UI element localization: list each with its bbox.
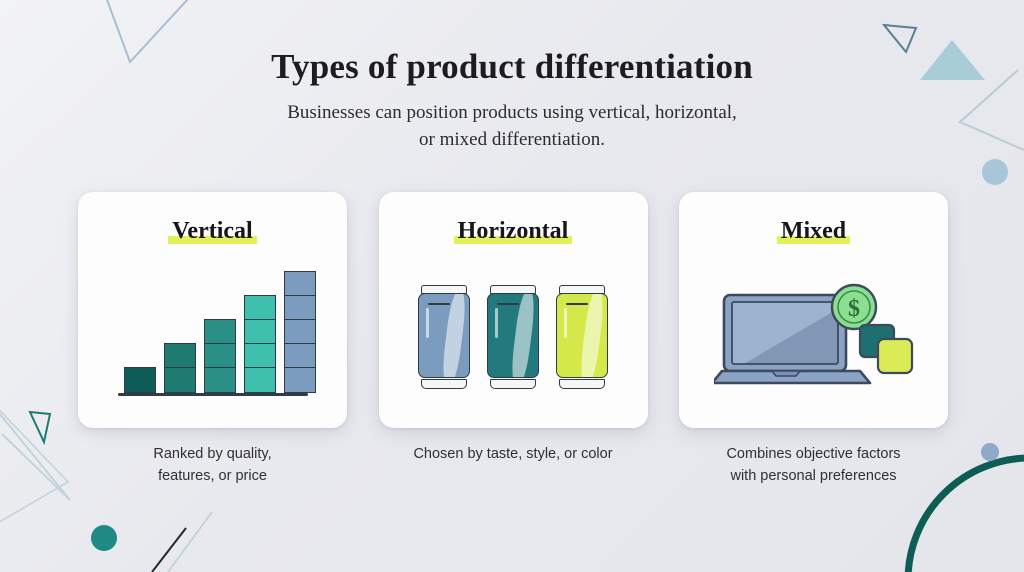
bar-1 xyxy=(124,367,156,393)
bar-segment xyxy=(245,344,275,368)
card-horizontal-heading: Horizontal xyxy=(458,218,569,245)
card-mixed[interactable]: Mixed xyxy=(679,192,948,428)
laptop-screen-icon xyxy=(732,302,838,364)
card-vertical-heading-text: Vertical xyxy=(172,218,252,244)
card-horizontal-heading-text: Horizontal xyxy=(458,218,569,244)
bar-segment xyxy=(245,368,275,392)
page-subtitle: Businesses can position products using v… xyxy=(0,100,1024,154)
card-vertical-illustration xyxy=(78,245,347,428)
laptop-trackpad-notch-icon xyxy=(772,371,800,376)
bar-segment xyxy=(165,368,195,392)
card-mixed-heading: Mixed xyxy=(781,218,846,245)
can-gloss-line xyxy=(495,308,498,338)
bar-chart-baseline xyxy=(118,393,308,396)
caption-vertical: Ranked by quality, features, or price xyxy=(78,443,347,503)
can-base xyxy=(421,379,467,389)
bar-segment xyxy=(245,320,275,344)
bar-segment xyxy=(285,368,315,392)
bar-segment xyxy=(205,368,235,392)
bar-3 xyxy=(204,319,236,393)
can-body xyxy=(418,293,470,378)
bar-segment xyxy=(245,296,275,320)
slide-header: Types of product differentiation Busines… xyxy=(0,0,1024,154)
laptop-coin-illustration: $ xyxy=(714,281,914,393)
can-base xyxy=(490,379,536,389)
caption-mixed: Combines objective factors with personal… xyxy=(679,443,948,503)
caption-horizontal: Chosen by taste, style, or color xyxy=(379,443,648,503)
can-body xyxy=(487,293,539,378)
bar-chart xyxy=(118,278,308,396)
bar-segment xyxy=(285,272,315,296)
can-base xyxy=(559,379,605,389)
page-title: Types of product differentiation xyxy=(0,47,1024,87)
bar-segment xyxy=(285,320,315,344)
card-mixed-illustration: $ xyxy=(679,245,948,428)
square-lime-icon xyxy=(878,339,912,373)
bar-chart-bars xyxy=(124,271,316,393)
card-horizontal[interactable]: Horizontal xyxy=(379,192,648,428)
cards-row: Vertical Horizontal Mixed xyxy=(78,192,948,428)
can-gloss-line xyxy=(564,308,567,338)
bar-segment xyxy=(285,296,315,320)
card-vertical[interactable]: Vertical xyxy=(78,192,347,428)
card-vertical-heading: Vertical xyxy=(172,218,252,245)
bar-segment xyxy=(205,344,235,368)
card-mixed-heading-text: Mixed xyxy=(781,218,846,244)
can-gloss xyxy=(578,293,606,378)
bar-segment xyxy=(285,344,315,368)
captions-row: Ranked by quality, features, or price Ch… xyxy=(78,443,948,503)
lime-can xyxy=(556,285,608,389)
card-horizontal-illustration xyxy=(379,245,648,428)
can-gloss xyxy=(509,293,537,378)
can-tab xyxy=(497,303,519,305)
bar-4 xyxy=(244,295,276,393)
can-gloss xyxy=(440,293,468,378)
teal-can xyxy=(487,285,539,389)
soda-cans-group xyxy=(418,285,608,389)
bar-2 xyxy=(164,343,196,393)
can-tab xyxy=(428,303,450,305)
bar-segment xyxy=(205,320,235,344)
dollar-symbol-icon: $ xyxy=(848,296,860,322)
bar-segment xyxy=(165,344,195,368)
blue-can xyxy=(418,285,470,389)
can-body xyxy=(556,293,608,378)
bar-5 xyxy=(284,271,316,393)
can-gloss-line xyxy=(426,308,429,338)
can-tab xyxy=(566,303,588,305)
bar-segment xyxy=(125,368,155,392)
